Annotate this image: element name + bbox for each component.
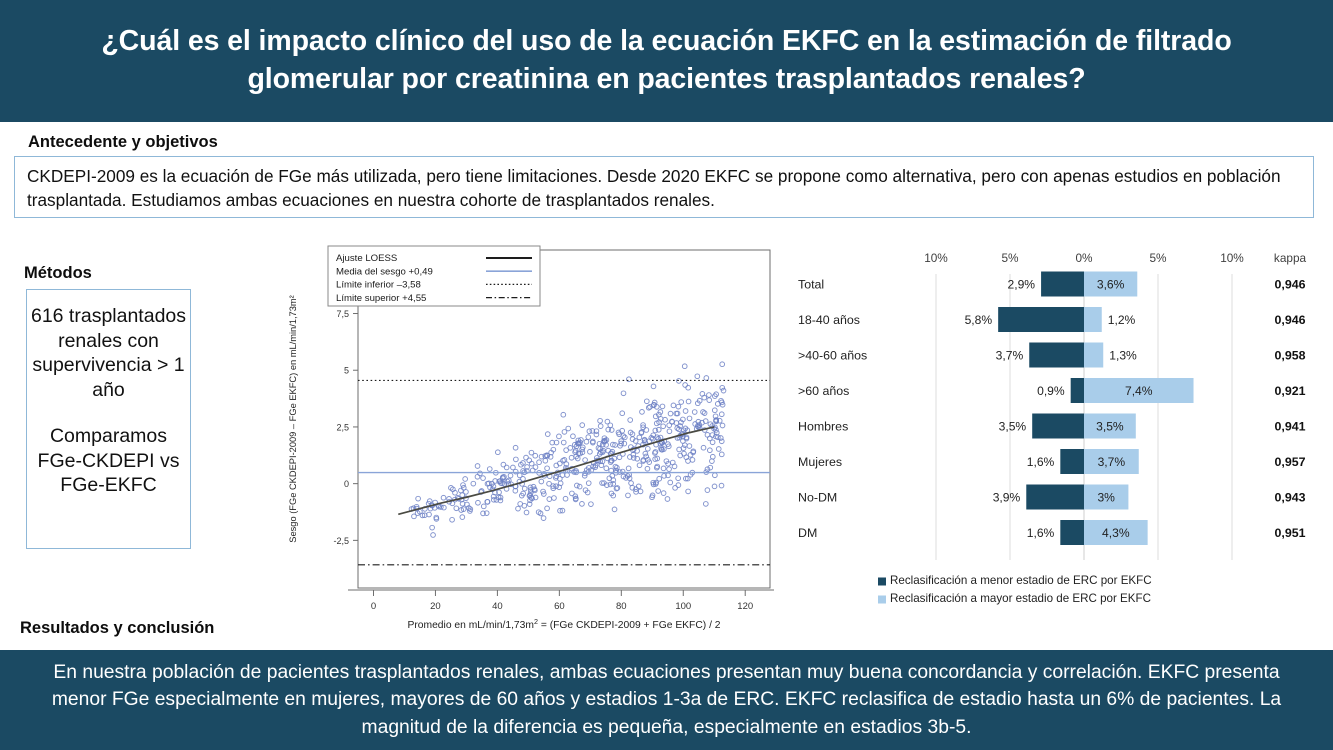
metodos-paragraph-2: Comparamos FGe-CKDEPI vs FGe-EKFC [27,424,190,498]
kappa-value: 0,951 [1274,526,1305,540]
x-tick-label: 60 [554,601,565,612]
x-axis-title: Promedio en mL/min/1,73m2 = (FGe CKDEPI-… [407,617,720,632]
antecedentes-text: CKDEPI-2009 es la ecuación de FGe más ut… [27,164,1301,213]
legend-label: Media del sesgo +0,49 [336,266,433,277]
tornado-axis-label: 5% [1001,251,1019,265]
bar-menor-estadio [1060,449,1084,474]
bar-menor-estadio [1032,414,1084,439]
antecedentes-box: CKDEPI-2009 es la ecuación de FGe más ut… [14,156,1314,218]
legend-label: Límite inferior –3,58 [336,280,421,291]
bar-mayor-estadio [1084,343,1103,368]
bar-label-menor: 1,6% [1027,455,1055,469]
scatter-legend: Ajuste LOESSMedia del sesgo +0,49Límite … [328,246,540,306]
tornado-axis-label: 10% [1220,251,1244,265]
bar-label-mayor: 4,3% [1102,526,1130,540]
tornado-row-label: >40-60 años [798,348,867,362]
bar-label-mayor: 1,3% [1109,348,1137,362]
poster-slide: ¿Cuál es el impacto clínico del uso de l… [0,0,1333,750]
bar-label-mayor: 1,2% [1108,313,1136,327]
tornado-row-label: >60 años [798,384,849,398]
bar-label-mayor: 7,4% [1125,384,1153,398]
bar-label-menor: 3,5% [999,419,1027,433]
bar-mayor-estadio [1084,307,1102,332]
bar-label-menor: 3,9% [993,490,1021,504]
x-tick-label: 120 [737,601,753,612]
bland-altman-svg: 107,552,50-2,5Sesgo (FGe CKDEPI-2009 – F… [270,240,790,635]
x-tick-label: 0 [371,601,376,612]
kappa-value: 0,941 [1274,419,1305,433]
reclasificacion-chart: 10%5%0%5%10%kappaTotal2,9%3,6%0,94618-40… [790,248,1330,623]
tornado-row-label: Mujeres [798,455,842,469]
x-tick-label: 20 [430,601,441,612]
tornado-row-label: Total [798,277,824,291]
tornado-axis-label: 5% [1149,251,1167,265]
y-tick-label: 2,5 [336,422,349,432]
bar-label-mayor: 3,6% [1097,277,1125,291]
bar-menor-estadio [1041,272,1084,297]
bar-label-mayor: 3,5% [1096,419,1124,433]
metodos-box: 616 trasplantados renales con superviven… [26,289,191,549]
bar-menor-estadio [998,307,1084,332]
conclusion-text: En nuestra población de pacientes traspl… [0,659,1333,741]
bland-altman-chart: 107,552,50-2,5Sesgo (FGe CKDEPI-2009 – F… [270,240,790,635]
kappa-value: 0,943 [1274,490,1305,504]
bar-label-menor: 0,9% [1037,384,1065,398]
tornado-legend-swatch [878,578,886,586]
kappa-header: kappa [1274,251,1307,265]
tornado-axis-label: 10% [924,251,948,265]
y-tick-label: -2,5 [333,536,349,546]
kappa-value: 0,957 [1274,455,1305,469]
y-tick-label: 5 [344,366,349,376]
section-heading-antecedentes: Antecedente y objetivos [28,133,218,152]
tornado-row-label: 18-40 años [798,313,860,327]
bar-menor-estadio [1026,485,1084,510]
metodos-paragraph-1: 616 trasplantados renales con superviven… [27,304,190,402]
kappa-value: 0,946 [1274,313,1305,327]
kappa-value: 0,958 [1274,348,1305,362]
tornado-legend-label: Reclasificación a menor estadio de ERC p… [890,574,1152,587]
bar-label-menor: 1,6% [1027,526,1055,540]
kappa-value: 0,921 [1274,384,1305,398]
reclasificacion-svg: 10%5%0%5%10%kappaTotal2,9%3,6%0,94618-40… [790,248,1330,623]
bar-menor-estadio [1071,378,1084,403]
tornado-row-label: DM [798,526,817,540]
legend-label: Ajuste LOESS [336,253,397,264]
x-tick-label: 100 [675,601,691,612]
bar-label-menor: 2,9% [1008,277,1036,291]
y-tick-label: 7,5 [336,309,349,319]
tornado-legend-swatch [878,596,886,604]
tornado-axis-label: 0% [1075,251,1093,265]
section-heading-metodos: Métodos [24,264,92,283]
title-banner: ¿Cuál es el impacto clínico del uso de l… [0,0,1333,122]
x-tick-label: 40 [492,601,503,612]
bar-label-mayor: 3% [1097,490,1115,504]
bar-label-menor: 5,8% [965,313,993,327]
tornado-legend-label: Reclasificación a mayor estadio de ERC p… [890,592,1151,605]
section-heading-resultados: Resultados y conclusión [20,619,214,638]
y-axis-title: Sesgo (FGe CKDEPI-2009 – FGe EKFC) en mL… [288,295,298,543]
bar-label-menor: 3,7% [996,348,1024,362]
kappa-value: 0,946 [1274,277,1305,291]
bar-label-mayor: 3,7% [1098,455,1126,469]
page-title: ¿Cuál es el impacto clínico del uso de l… [0,23,1333,98]
conclusion-banner: En nuestra población de pacientes traspl… [0,650,1333,750]
tornado-row-label: No-DM [798,490,837,504]
bar-menor-estadio [1029,343,1084,368]
y-tick-label: 0 [344,479,349,489]
bar-menor-estadio [1060,520,1084,545]
legend-label: Límite superior +4,55 [336,293,426,304]
tornado-row-label: Hombres [798,419,848,433]
x-tick-label: 80 [616,601,627,612]
